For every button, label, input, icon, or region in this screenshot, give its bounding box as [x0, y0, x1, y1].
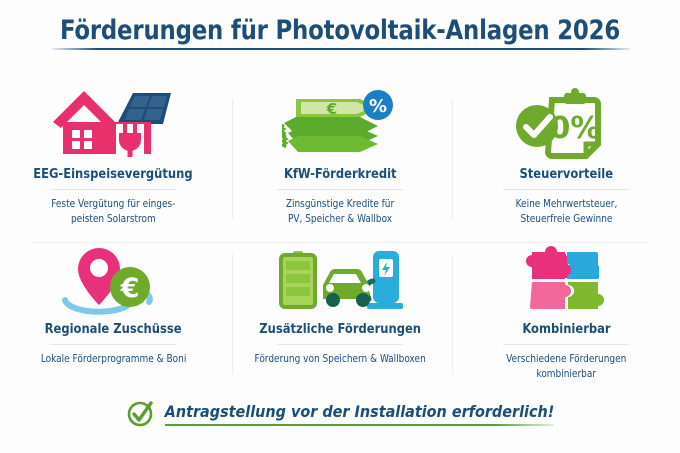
card-title-divider — [50, 189, 176, 190]
clipboard-zero-percent-check-icon: 0% — [453, 86, 680, 164]
percent-badge-label: % — [369, 96, 387, 117]
card-title: Kombinierbar — [522, 321, 610, 337]
card-kombinierbar[interactable]: Kombinierbar Verschiedene Förderungen ko… — [453, 237, 680, 392]
card-steuervorteile[interactable]: 0% Steuervorteile Keine Mehrwertsteuer, … — [453, 82, 680, 237]
footer-underline — [165, 424, 555, 426]
card-kfw-foerderkredit[interactable]: € % KfW-Förderkredit Zinsgünstige Kredit… — [227, 82, 454, 237]
page-title: Förderungen für Photovoltaik-Anlagen 202… — [20, 14, 659, 48]
footer-note: Antragstellung vor der Installation erfo… — [0, 398, 680, 428]
card-zusaetzliche-foerderungen[interactable]: Zusätzliche Förderungen Förderung von Sp… — [227, 237, 454, 392]
banknotes-percent-icon: € % — [227, 86, 454, 164]
card-description: Verschiedene Förderungen kombinierbar — [506, 352, 626, 382]
header: Förderungen für Photovoltaik-Anlagen 202… — [0, 14, 680, 48]
card-title-divider — [503, 344, 629, 345]
euro-coin-label: € — [120, 273, 140, 304]
card-description: Feste Vergütung für einges- peisten Sola… — [51, 197, 175, 227]
card-title: Zusätzliche Förderungen — [259, 321, 421, 337]
card-title-divider — [277, 344, 403, 345]
battery-car-charger-icon — [227, 241, 454, 319]
card-description: Lokale Förderprogramme & Boni — [41, 352, 186, 367]
puzzle-pieces-icon — [453, 241, 680, 319]
cards-row-1: EEG-Einspeisevergütung Feste Vergütung f… — [0, 82, 680, 237]
card-regionale-zuschuesse[interactable]: € Regionale Zuschüsse Lokale Förderprogr… — [0, 237, 227, 392]
euro-note-label: € — [326, 100, 337, 118]
card-title: Regionale Zuschüsse — [45, 321, 182, 337]
title-underline — [52, 48, 630, 50]
card-title: KfW-Förderkredit — [284, 166, 397, 182]
card-description: Keine Mehrwertsteuer, Steuerfreie Gewinn… — [516, 197, 618, 227]
cards-grid: EEG-Einspeisevergütung Feste Vergütung f… — [0, 82, 680, 392]
map-pin-euro-coin-icon: € — [0, 241, 227, 319]
footer-text: Antragstellung vor der Installation erfo… — [165, 402, 555, 421]
card-description: Förderung von Speichern & Wallboxen — [254, 352, 425, 367]
card-title: EEG-Einspeisevergütung — [34, 166, 193, 182]
card-description: Zinsgünstige Kredite für PV, Speicher & … — [286, 197, 394, 227]
card-title: Steuervorteile — [520, 166, 614, 182]
card-title-divider — [50, 344, 176, 345]
card-title-divider — [277, 189, 403, 190]
solar-house-plug-icon — [0, 86, 227, 164]
check-circle-icon — [126, 398, 156, 428]
footer-text-wrap: Antragstellung vor der Installation erfo… — [165, 401, 555, 426]
infographic-page: Förderungen für Photovoltaik-Anlagen 202… — [0, 0, 680, 453]
cards-row-2: € Regionale Zuschüsse Lokale Förderprogr… — [0, 237, 680, 392]
card-title-divider — [503, 189, 629, 190]
card-eeg-einspeiseverguetung[interactable]: EEG-Einspeisevergütung Feste Vergütung f… — [0, 82, 227, 237]
